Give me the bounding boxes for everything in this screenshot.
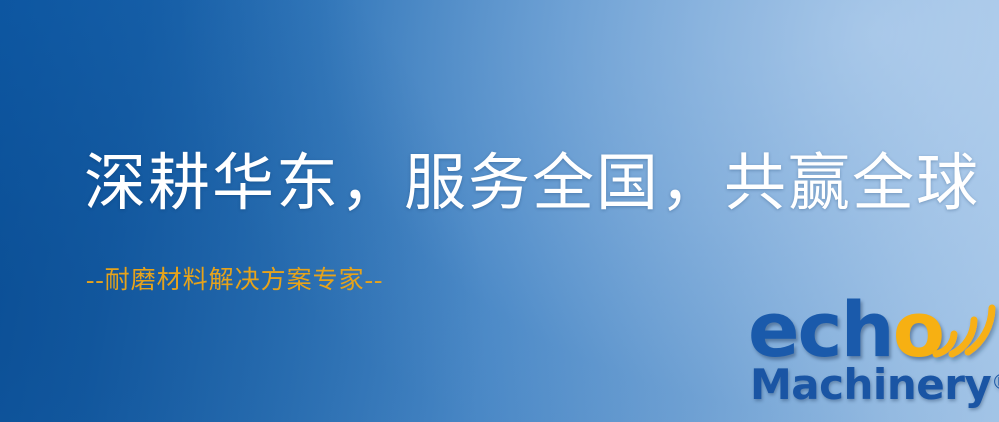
echo-signal-waves-icon: [930, 294, 999, 360]
logo-company-name: Machinery®: [750, 364, 999, 406]
promo-banner: 深耕华东，服务全国，共赢全球 --耐磨材料解决方案专家-- echo Machi…: [0, 0, 999, 422]
logo-echo-text: echo: [748, 292, 943, 368]
echo-machinery-logo[interactable]: echo Machinery®: [744, 296, 999, 422]
banner-subtitle: --耐磨材料解决方案专家--: [86, 266, 383, 296]
logo-company-text: Machinery: [750, 360, 991, 409]
banner-headline: 深耕华东，服务全国，共赢全球: [84, 150, 980, 219]
registered-trademark-icon: ®: [991, 370, 999, 394]
